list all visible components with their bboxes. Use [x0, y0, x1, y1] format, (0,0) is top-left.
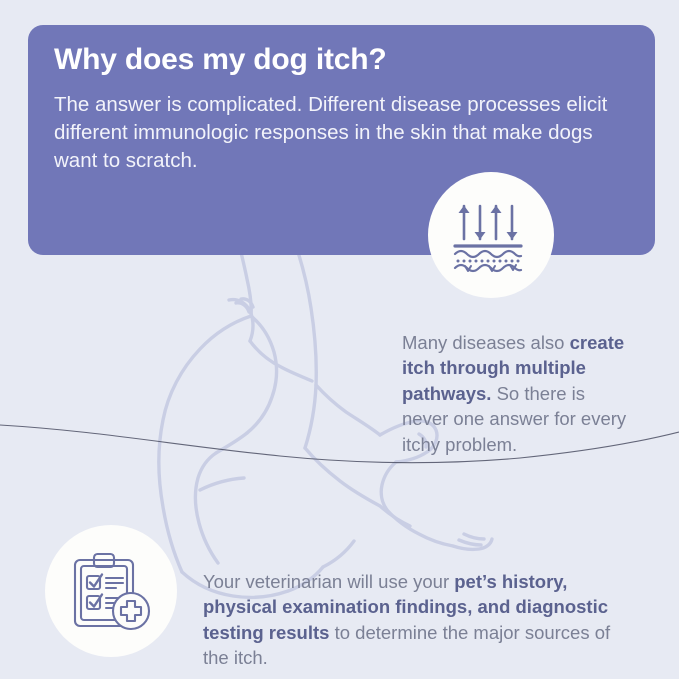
header-card: Why does my dog itch? The answer is comp…: [28, 25, 655, 255]
note-pathways: Many diseases also create itch through m…: [402, 330, 630, 458]
skin-barrier-icon-badge: [428, 172, 554, 298]
skin-barrier-arrows-icon: [451, 195, 531, 275]
note-vet-lead: Your veterinarian will use your: [203, 571, 454, 592]
note-pathways-lead: Many diseases also: [402, 332, 570, 353]
header-body-text: The answer is complicated. Different dis…: [54, 91, 629, 175]
note-vet: Your veterinarian will use your pet’s hi…: [203, 569, 623, 671]
page-title: Why does my dog itch?: [54, 43, 629, 78]
medical-cross-badge: [113, 593, 149, 629]
clipboard-checklist-plus-icon: [68, 548, 154, 634]
infographic-canvas: Why does my dog itch? The answer is comp…: [0, 0, 679, 679]
clipboard-icon-badge: [45, 525, 177, 657]
